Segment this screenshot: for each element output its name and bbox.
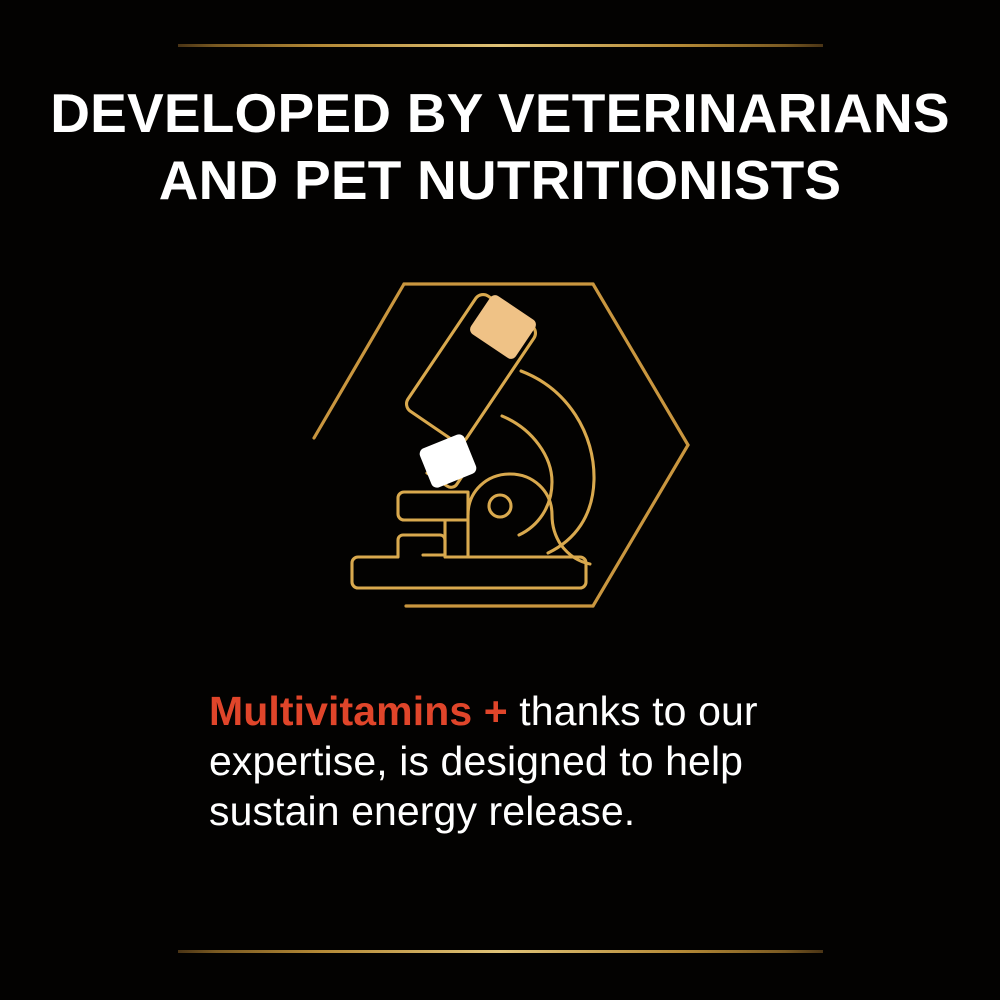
- objective-lens-icon: [418, 433, 478, 490]
- page-title: DEVELOPED BY VETERINARIANS AND PET NUTRI…: [0, 80, 1000, 214]
- eyepiece-icon: [468, 293, 538, 361]
- promo-panel: DEVELOPED BY VETERINARIANS AND PET NUTRI…: [0, 0, 1000, 1000]
- focus-knob-icon: [489, 495, 511, 517]
- microscope-icon: [300, 268, 700, 618]
- body-copy-accent: Multivitamins +: [209, 688, 508, 734]
- microscope-badge: [300, 268, 700, 618]
- body-copy: Multivitamins + thanks to our expertise,…: [209, 686, 849, 836]
- top-gold-divider: [178, 44, 823, 47]
- bottom-gold-divider: [178, 950, 823, 953]
- microscope-drawing: [352, 295, 594, 588]
